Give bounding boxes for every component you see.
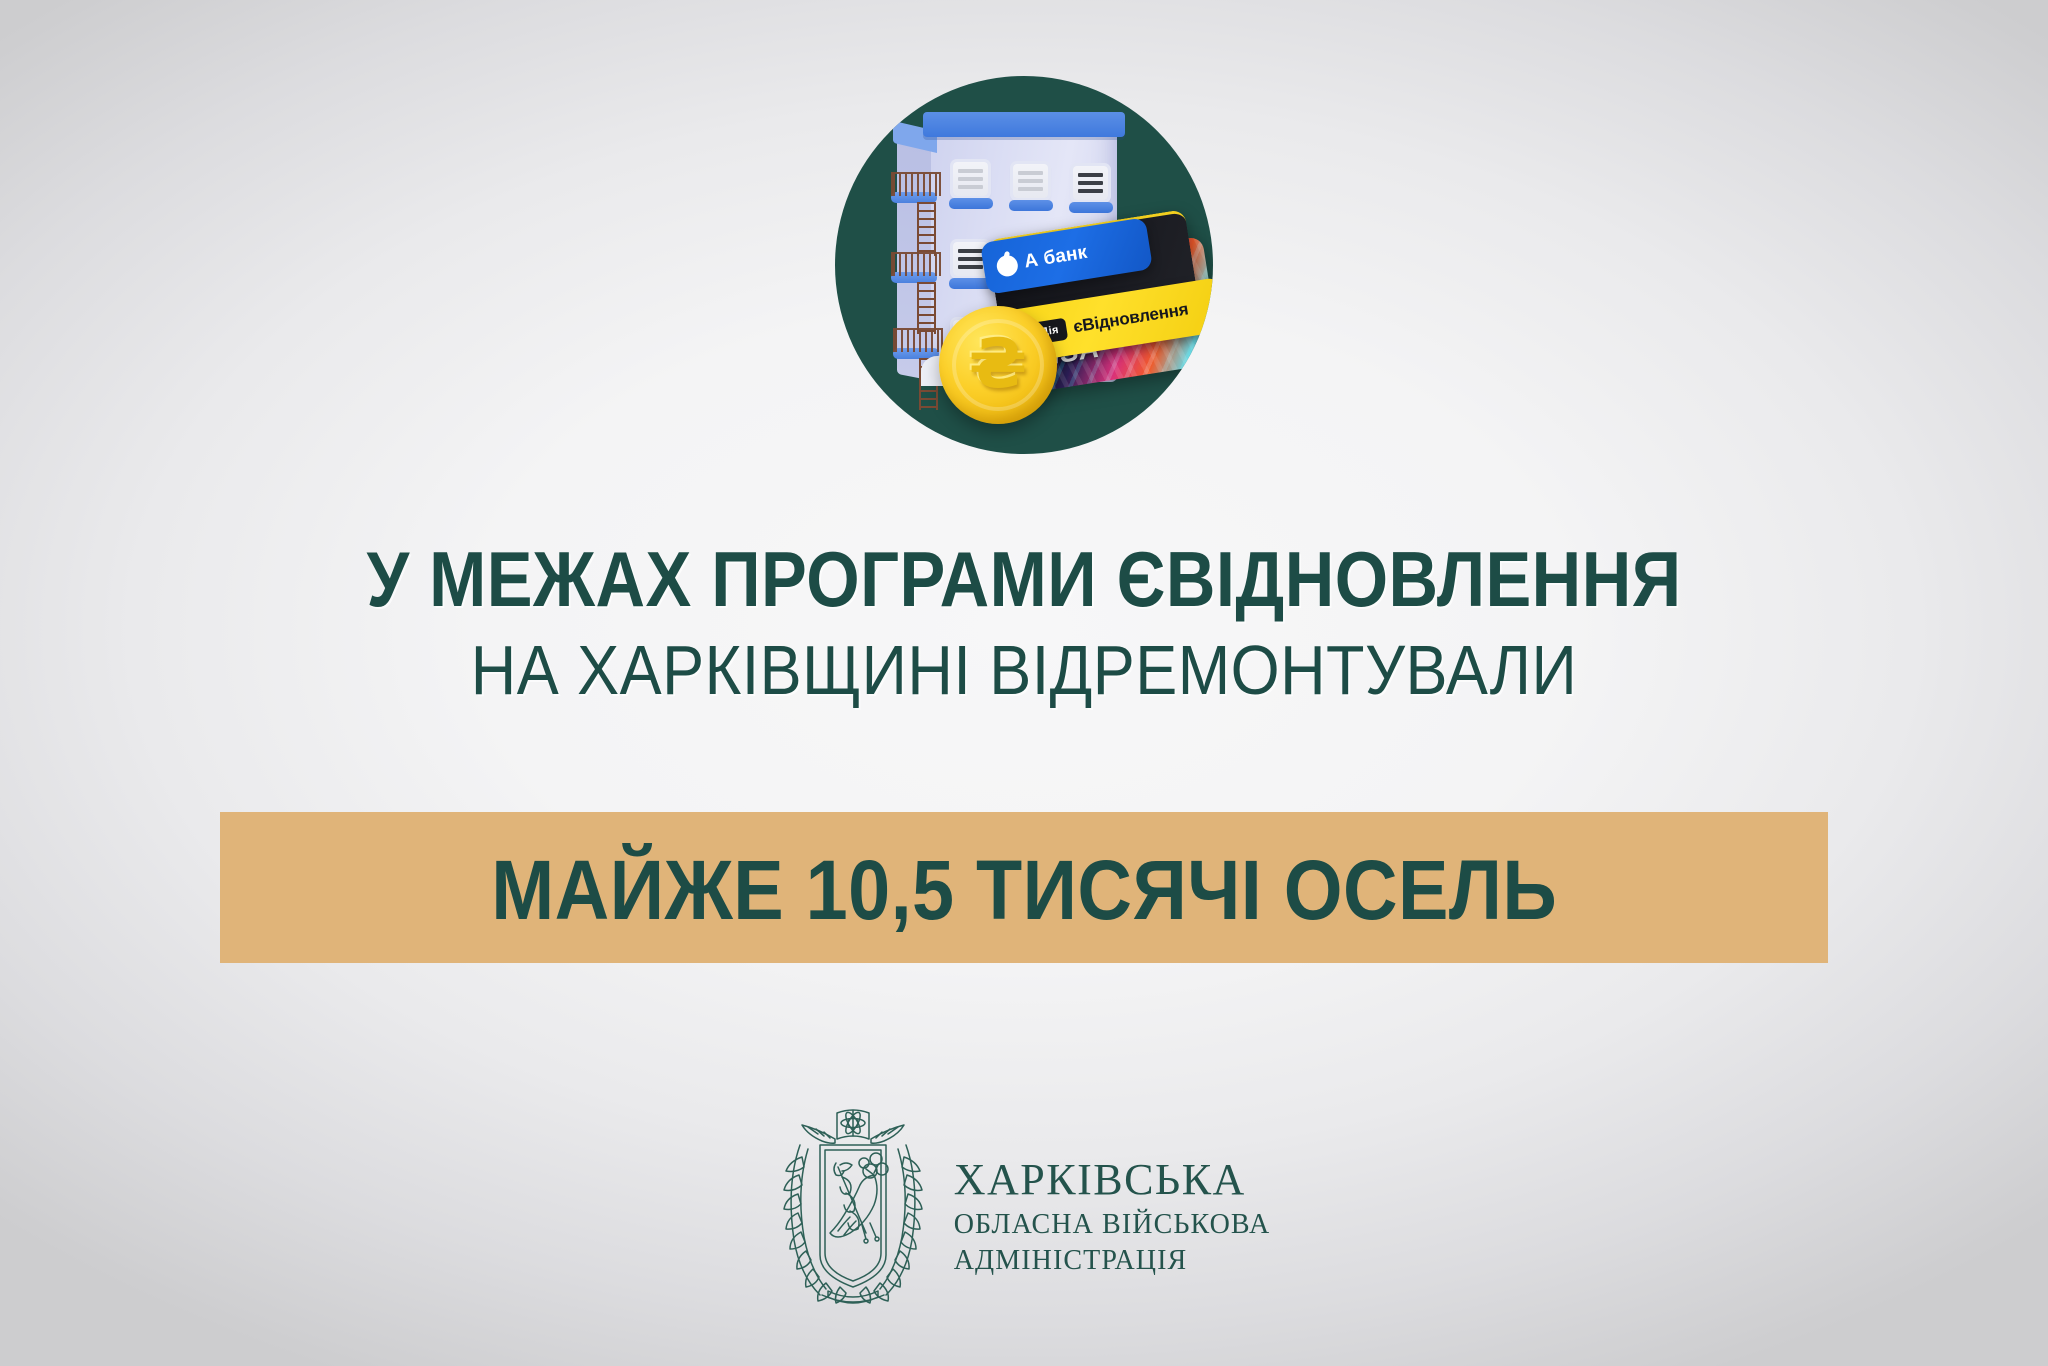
organization-logo: ХАРКІВСЬКА ОБЛАСНА ВІЙСЬКОВА АДМІНІСТРАЦ…: [0, 1105, 2048, 1320]
headline-line-1: У МЕЖАХ ПРОГРАМИ ЄВІДНОВЛЕННЯ: [123, 540, 1925, 620]
building-window: [1073, 166, 1108, 200]
abank-card-label: А банк: [1023, 242, 1089, 274]
fire-escape-ladder: [917, 202, 936, 256]
hryvnia-coin: ₴: [939, 306, 1057, 424]
highlight-bar: МАЙЖЕ 10,5 ТИСЯЧІ ОСЕЛЬ: [220, 812, 1828, 963]
coin-inner-ring: ₴: [952, 319, 1044, 411]
window-sill: [949, 198, 993, 209]
headline-line-2: НА ХАРКІВЩИНІ ВІДРЕМОНТУВАЛИ: [102, 634, 1945, 708]
logo-line-1: ХАРКІВСЬКА: [954, 1154, 1271, 1206]
organization-name: ХАРКІВСЬКА ОБЛАСНА ВІЙСЬКОВА АДМІНІСТРАЦ…: [954, 1148, 1271, 1278]
poster-canvas: VISA А банк Дія єВідновлення: [0, 0, 2048, 1366]
building-roof: [923, 112, 1125, 137]
evidnovlennya-card-label: єВідновлення: [1072, 299, 1190, 337]
kharkiv-coat-of-arms-icon: [778, 1105, 928, 1320]
hryvnia-symbol: ₴: [969, 331, 1027, 399]
balcony-railing: [891, 172, 941, 196]
fire-escape-ladder: [917, 282, 936, 334]
window-sill: [1069, 202, 1113, 213]
highlight-statistic-text: МАЙЖЕ 10,5 ТИСЯЧІ ОСЕЛЬ: [491, 848, 1557, 932]
building-window: [1013, 164, 1048, 198]
illustration-clip: VISA А банк Дія єВідновлення: [835, 76, 1213, 454]
window-sill: [1009, 200, 1053, 211]
illustration-badge: VISA А банк Дія єВідновлення: [835, 76, 1213, 454]
abank-logo-icon: [995, 253, 1019, 277]
logo-line-2: ОБЛАСНА ВІЙСЬКОВА: [954, 1208, 1271, 1241]
building-window: [953, 162, 988, 196]
headline-block: У МЕЖАХ ПРОГРАМИ ЄВІДНОВЛЕННЯ НА ХАРКІВЩ…: [0, 540, 2048, 707]
logo-line-3: АДМІНІСТРАЦІЯ: [954, 1244, 1271, 1277]
